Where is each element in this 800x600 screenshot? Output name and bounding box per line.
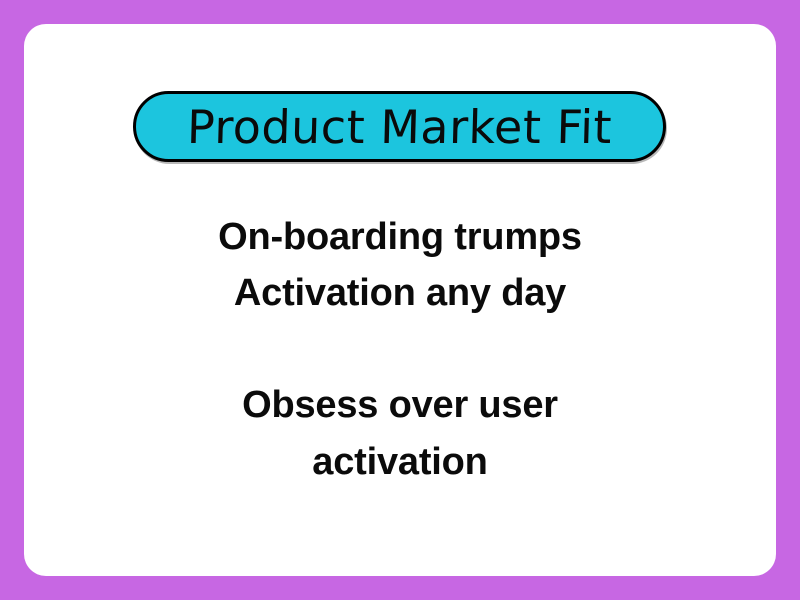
body-line: On-boarding trumps xyxy=(64,209,736,265)
body-line: Activation any day xyxy=(64,265,736,321)
body-paragraph-2: Obsess over user activation xyxy=(64,377,736,489)
slide-canvas: Product Market Fit On-boarding trumps Ac… xyxy=(0,0,800,600)
title-pill-label: Product Market Fit xyxy=(186,104,612,150)
paragraph-spacer xyxy=(64,321,736,377)
body-line: Obsess over user xyxy=(64,377,736,433)
slide-card: Product Market Fit On-boarding trumps Ac… xyxy=(24,24,776,576)
title-pill-badge: Product Market Fit xyxy=(133,91,666,162)
body-paragraph-1: On-boarding trumps Activation any day xyxy=(64,209,736,321)
slide-body: On-boarding trumps Activation any day Ob… xyxy=(24,209,776,490)
body-line: activation xyxy=(64,434,736,490)
